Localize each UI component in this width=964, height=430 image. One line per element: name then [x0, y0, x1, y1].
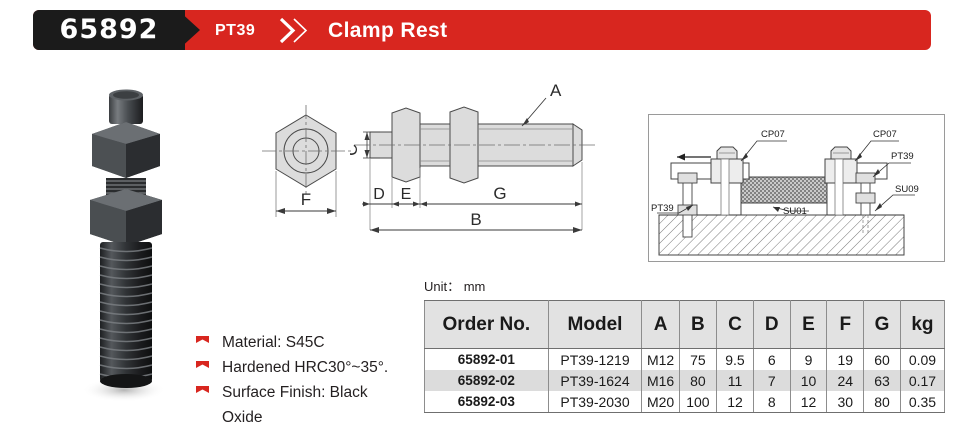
table-row: 65892-01 PT39-1219 M12 75 9.5 6 9 19 60 … [425, 349, 945, 371]
table-header-e: E [790, 301, 827, 349]
table-header-g: G [864, 301, 901, 349]
triangle-bullet-icon [196, 386, 209, 400]
clamp-rest-side-view-drawing: C A D E G [350, 80, 650, 265]
unit-label: Unit： mm [424, 276, 485, 295]
product-photo [58, 82, 198, 412]
spec-item-hardness: Hardened HRC30°~35°. [196, 355, 416, 380]
cell-e: 9 [790, 349, 827, 371]
table-header-d: D [753, 301, 790, 349]
cell-d: 7 [753, 370, 790, 391]
label-cp07-right: CP07 [873, 129, 897, 140]
dimension-label-f: F [301, 190, 311, 209]
label-pt39-left: PT39 [651, 203, 674, 214]
page-header-banner: 65892 PT39 Clamp Rest [33, 10, 931, 50]
cell-f: 30 [827, 391, 864, 413]
cell-model: PT39-2030 [548, 391, 642, 413]
cell-model: PT39-1219 [548, 349, 642, 371]
label-su01: SU01 [783, 206, 807, 217]
cell-c: 11 [716, 370, 753, 391]
cell-kg: 0.09 [900, 349, 944, 371]
cell-order-no: 65892-01 [425, 349, 549, 371]
cell-c: 9.5 [716, 349, 753, 371]
cell-b: 75 [679, 349, 716, 371]
dimension-label-e: E [401, 186, 412, 203]
cell-f: 19 [827, 349, 864, 371]
cell-a: M20 [642, 391, 679, 413]
cell-model: PT39-1624 [548, 370, 642, 391]
cell-e: 10 [790, 370, 827, 391]
table-header-b: B [679, 301, 716, 349]
label-su09: SU09 [895, 184, 919, 195]
cell-g: 63 [864, 370, 901, 391]
table-header-a: A [642, 301, 679, 349]
cell-a: M16 [642, 370, 679, 391]
cell-d: 6 [753, 349, 790, 371]
dimension-label-b: B [470, 210, 481, 229]
spec-item-material: Material: S45C [196, 330, 416, 355]
dimension-label-d: D [373, 186, 385, 203]
table-header-f: F [827, 301, 864, 349]
table-header-kg: kg [900, 301, 944, 349]
triangle-bullet-icon [196, 336, 209, 350]
cell-g: 80 [864, 391, 901, 413]
spec-item-surface-finish: Surface Finish: Black [196, 380, 416, 405]
table-header-row: Order No. Model A B C D E F G kg [425, 301, 945, 349]
triangle-bullet-icon [196, 361, 209, 375]
page-title: Clamp Rest [328, 10, 448, 50]
product-code: 65892 [33, 10, 185, 50]
table-row: 65892-02 PT39-1624 M16 80 11 7 10 24 63 … [425, 370, 945, 391]
table-header-model: Model [548, 301, 642, 349]
cell-f: 24 [827, 370, 864, 391]
cell-b: 100 [679, 391, 716, 413]
cell-e: 12 [790, 391, 827, 413]
spec-item-label: Hardened HRC30°~35°. [222, 359, 388, 376]
cell-order-no: 65892-03 [425, 391, 549, 413]
cell-kg: 0.35 [900, 391, 944, 413]
dimension-label-g: G [493, 184, 506, 203]
cell-order-no: 65892-02 [425, 370, 549, 391]
table-header-c: C [716, 301, 753, 349]
cell-g: 60 [864, 349, 901, 371]
cell-c: 12 [716, 391, 753, 413]
table-header-order-no: Order No. [425, 301, 549, 349]
spec-item-label: Surface Finish: Black [222, 384, 368, 401]
dimension-label-c: C [350, 144, 361, 156]
cell-kg: 0.17 [900, 370, 944, 391]
product-series: PT39 [215, 10, 255, 50]
label-pt39-right: PT39 [891, 151, 914, 162]
cell-a: M12 [642, 349, 679, 371]
cell-d: 8 [753, 391, 790, 413]
table-row: 65892-03 PT39-2030 M20 100 12 8 12 30 80… [425, 391, 945, 413]
spec-item-surface-finish-continuation: Oxide [196, 405, 416, 430]
label-cp07-left: CP07 [761, 129, 785, 140]
cell-b: 80 [679, 370, 716, 391]
specification-table: Order No. Model A B C D E F G kg 65892-0… [424, 300, 945, 413]
dimension-label-a: A [550, 81, 562, 100]
double-chevron-right-icon [277, 17, 313, 44]
spec-item-label: Material: S45C [222, 334, 325, 351]
application-example-diagram: CP07 CP07 PT39 SU09 PT39 SU01 [648, 114, 945, 262]
specification-list: Material: S45C Hardened HRC30°~35°. Surf… [196, 330, 416, 430]
